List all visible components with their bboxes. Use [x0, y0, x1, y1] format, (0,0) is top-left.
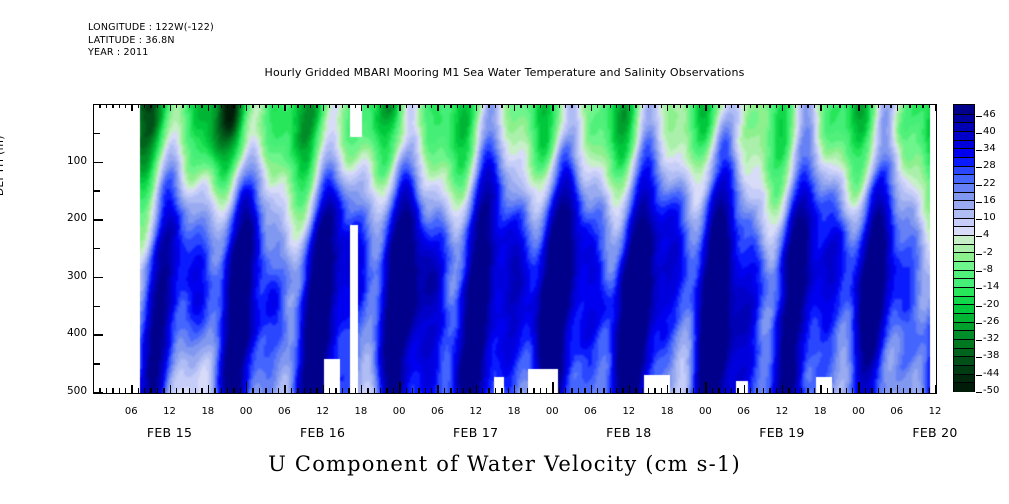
axis-tick: [412, 104, 413, 108]
colorbar-divider: [954, 122, 974, 123]
axis-tick: [304, 388, 305, 393]
colorbar-tick: [976, 236, 982, 237]
colorbar-divider: [954, 166, 974, 167]
axis-tick: [527, 388, 528, 393]
axis-tick: [310, 388, 311, 393]
axis-tick: [495, 104, 496, 108]
axis-tick: [335, 104, 336, 108]
axis-tick: [903, 388, 904, 393]
axis-tick: [661, 104, 662, 108]
axis-tick: [348, 388, 349, 393]
axis-tick: [616, 388, 617, 393]
axis-tick: [699, 104, 700, 108]
x-axis-hour-label: 18: [341, 406, 381, 417]
axis-tick: [437, 104, 438, 111]
x-axis-hour-label: 12: [456, 406, 496, 417]
latitude-label: LATITUDE : 36.8N: [88, 35, 175, 46]
axis-tick: [807, 388, 808, 393]
colorbar-divider: [954, 252, 974, 253]
axis-tick: [571, 104, 572, 108]
colorbar-divider: [954, 382, 974, 383]
axis-tick: [131, 104, 132, 111]
axis-tick: [642, 104, 643, 108]
axis-tick: [540, 104, 541, 108]
axis-tick: [629, 104, 630, 111]
colorbar-tick: [976, 150, 982, 151]
axis-tick: [712, 388, 713, 393]
axis-tick: [144, 104, 145, 108]
x-axis-hour-label: 06: [111, 406, 151, 417]
axis-tick: [94, 277, 103, 278]
axis-tick: [182, 104, 183, 108]
axis-tick: [374, 104, 375, 108]
colorbar-label: -50: [983, 385, 999, 396]
colorbar-tick: [976, 392, 982, 393]
axis-tick: [201, 388, 202, 393]
colorbar-divider: [954, 322, 974, 323]
x-axis-hour-label: 06: [571, 406, 611, 417]
axis-tick: [355, 104, 356, 108]
colorbar-tick: [976, 167, 982, 168]
axis-tick: [737, 388, 738, 393]
axis-tick: [94, 363, 100, 364]
y-axis-label: 500: [41, 385, 87, 397]
axis-tick: [310, 104, 311, 108]
x-axis-hour-label: 18: [188, 406, 228, 417]
colorbar-divider: [954, 183, 974, 184]
colorbar-divider: [954, 278, 974, 279]
axis-tick: [693, 104, 694, 108]
x-axis-hour-label: 12: [150, 406, 190, 417]
axis-tick: [131, 385, 132, 393]
axis-tick: [399, 104, 400, 111]
x-axis-day-label: FEB 17: [416, 425, 536, 440]
x-axis-hour-label: 00: [838, 406, 878, 417]
axis-tick: [176, 104, 177, 108]
axis-tick: [214, 104, 215, 108]
x-axis-hour-label: 06: [724, 406, 764, 417]
colorbar-label: 40: [983, 126, 996, 137]
axis-tick: [909, 104, 910, 108]
axis-tick: [189, 388, 190, 393]
axis-tick: [890, 388, 891, 393]
axis-tick: [884, 104, 885, 108]
axis-tick: [259, 388, 260, 393]
axis-tick: [897, 385, 898, 393]
axis-tick: [508, 104, 509, 108]
axis-tick: [565, 104, 566, 108]
axis-tick: [259, 104, 260, 108]
axis-tick: [406, 104, 407, 108]
axis-tick: [195, 388, 196, 393]
axis-tick: [94, 219, 103, 220]
axis-tick: [170, 385, 171, 393]
colorbar-divider: [954, 174, 974, 175]
axis-tick: [450, 388, 451, 393]
axis-tick: [731, 104, 732, 108]
axis-tick: [737, 104, 738, 108]
axis-tick: [909, 388, 910, 393]
x-axis-day-label: FEB 18: [569, 425, 689, 440]
colorbar-divider: [954, 330, 974, 331]
axis-tick: [227, 104, 228, 108]
axis-tick: [801, 388, 802, 393]
heatmap-field: [94, 105, 936, 393]
axis-tick: [119, 388, 120, 393]
colorbar-divider: [954, 287, 974, 288]
axis-tick: [533, 104, 534, 108]
axis-tick: [654, 388, 655, 393]
axis-tick: [316, 388, 317, 393]
colorbar-tick: [976, 254, 982, 255]
axis-tick: [584, 388, 585, 393]
axis-tick: [744, 385, 745, 393]
axis-tick: [610, 388, 611, 393]
axis-tick: [559, 388, 560, 393]
x-axis-hour-label: 12: [609, 406, 649, 417]
axis-tick: [284, 385, 285, 393]
axis-tick: [469, 388, 470, 393]
axis-tick: [852, 388, 853, 393]
x-axis-hour-label: 18: [494, 406, 534, 417]
axis-tick: [852, 104, 853, 108]
axis-tick: [501, 104, 502, 108]
metadata-block: LONGITUDE : 122W(-122)LATITUDE : 36.8NYE…: [88, 22, 214, 60]
axis-tick: [820, 385, 821, 393]
axis-tick: [386, 388, 387, 393]
axis-tick: [584, 104, 585, 108]
colorbar-label: 28: [983, 160, 996, 171]
axis-tick: [552, 104, 553, 111]
axis-tick: [514, 385, 515, 393]
axis-tick: [297, 388, 298, 393]
axis-tick: [731, 388, 732, 393]
axis-tick: [622, 388, 623, 393]
axis-tick: [170, 104, 171, 111]
x-axis-day-label: FEB 20: [875, 425, 995, 440]
axis-tick: [227, 388, 228, 393]
axis-tick: [399, 382, 400, 393]
axis-tick: [431, 104, 432, 108]
axis-tick: [878, 104, 879, 108]
axis-tick: [667, 104, 668, 111]
axis-tick: [565, 388, 566, 393]
axis-tick: [763, 388, 764, 393]
axis-tick: [99, 388, 100, 393]
axis-tick: [150, 104, 151, 108]
axis-tick: [233, 388, 234, 393]
axis-tick: [297, 104, 298, 108]
axis-tick: [240, 388, 241, 393]
axis-tick: [756, 388, 757, 393]
axis-tick: [788, 104, 789, 108]
axis-tick: [246, 382, 247, 393]
axis-tick: [265, 104, 266, 108]
axis-tick: [795, 388, 796, 393]
colorbar-tick: [976, 323, 982, 324]
axis-tick: [278, 388, 279, 393]
colorbar-divider: [954, 261, 974, 262]
colorbar-divider: [954, 339, 974, 340]
axis-tick: [380, 104, 381, 108]
axis-tick: [897, 104, 898, 111]
axis-tick: [138, 104, 139, 108]
axis-tick: [144, 388, 145, 393]
axis-tick: [514, 104, 515, 111]
axis-tick: [693, 388, 694, 393]
x-axis-hour-label: 00: [379, 406, 419, 417]
colorbar-label: 46: [983, 109, 996, 120]
axis-tick: [622, 104, 623, 108]
axis-tick: [833, 104, 834, 108]
axis-tick: [221, 388, 222, 393]
axis-tick: [291, 104, 292, 108]
axis-tick: [718, 388, 719, 393]
axis-tick: [578, 388, 579, 393]
axis-tick: [839, 104, 840, 108]
axis-tick: [776, 388, 777, 393]
axis-tick: [648, 388, 649, 393]
axis-tick: [240, 104, 241, 108]
chart-title: Hourly Gridded MBARI Mooring M1 Sea Wate…: [0, 66, 1009, 79]
colorbar-label: -20: [983, 299, 999, 310]
axis-tick: [903, 104, 904, 108]
axis-tick: [680, 104, 681, 108]
plot-frame: [93, 104, 937, 394]
colorbar: [953, 104, 975, 392]
axis-tick: [437, 385, 438, 393]
axis-tick: [189, 104, 190, 108]
axis-tick: [469, 104, 470, 108]
axis-tick: [112, 104, 113, 108]
axis-tick: [157, 388, 158, 393]
x-axis-day-label: FEB 15: [110, 425, 230, 440]
colorbar-tick: [976, 202, 982, 203]
axis-tick: [463, 104, 464, 108]
axis-tick: [699, 388, 700, 393]
axis-tick: [265, 388, 266, 393]
axis-tick: [756, 104, 757, 108]
colorbar-divider: [954, 131, 974, 132]
axis-tick: [374, 388, 375, 393]
axis-tick: [119, 104, 120, 108]
axis-tick: [476, 104, 477, 111]
colorbar-tick: [976, 116, 982, 117]
colorbar-divider: [954, 226, 974, 227]
axis-tick: [858, 382, 859, 393]
axis-tick: [865, 104, 866, 108]
axis-tick: [444, 388, 445, 393]
axis-tick: [916, 104, 917, 108]
axis-tick: [616, 104, 617, 108]
axis-tick: [482, 104, 483, 108]
axis-tick: [603, 104, 604, 108]
axis-tick: [93, 104, 94, 111]
axis-tick: [744, 104, 745, 111]
axis-tick: [361, 104, 362, 111]
colorbar-label: -8: [983, 264, 993, 275]
axis-tick: [591, 385, 592, 393]
colorbar-label: -44: [983, 368, 999, 379]
axis-tick: [272, 388, 273, 393]
x-axis-hour-label: 18: [800, 406, 840, 417]
axis-tick: [629, 385, 630, 393]
x-axis-hour-label: 00: [226, 406, 266, 417]
axis-tick: [163, 104, 164, 108]
axis-tick: [922, 388, 923, 393]
axis-tick: [463, 388, 464, 393]
axis-tick: [431, 388, 432, 393]
axis-tick: [635, 388, 636, 393]
colorbar-tick: [976, 357, 982, 358]
colorbar-label: 4: [983, 229, 989, 240]
axis-tick: [807, 104, 808, 108]
axis-tick: [769, 104, 770, 108]
axis-tick: [355, 388, 356, 393]
x-axis-hour-label: 00: [685, 406, 725, 417]
colorbar-divider: [954, 114, 974, 115]
axis-tick: [457, 104, 458, 108]
axis-tick: [106, 104, 107, 108]
colorbar-label: -32: [983, 333, 999, 344]
axis-tick: [482, 388, 483, 393]
axis-tick: [858, 104, 859, 111]
axis-tick: [99, 104, 100, 108]
axis-tick: [782, 385, 783, 393]
colorbar-label: -2: [983, 247, 993, 258]
axis-tick: [94, 248, 100, 249]
colorbar-label: -14: [983, 281, 999, 292]
axis-tick: [935, 104, 936, 111]
colorbar-divider: [954, 374, 974, 375]
axis-tick: [125, 104, 126, 108]
axis-tick: [642, 388, 643, 393]
plot-caption: U Component of Water Velocity (cm s-1): [0, 452, 1009, 476]
axis-tick: [705, 104, 706, 111]
axis-tick: [476, 385, 477, 393]
axis-tick: [406, 388, 407, 393]
axis-tick: [597, 388, 598, 393]
colorbar-divider: [954, 244, 974, 245]
colorbar-label: -26: [983, 316, 999, 327]
axis-tick: [922, 104, 923, 108]
colorbar-label: -38: [983, 350, 999, 361]
axis-tick: [176, 388, 177, 393]
axis-tick: [725, 388, 726, 393]
colorbar-tick: [976, 185, 982, 186]
axis-tick: [846, 104, 847, 108]
axis-tick: [718, 104, 719, 108]
axis-tick: [546, 104, 547, 108]
axis-tick: [93, 382, 94, 393]
axis-tick: [501, 388, 502, 393]
colorbar-tick: [976, 219, 982, 220]
axis-tick: [795, 104, 796, 108]
axis-tick: [591, 104, 592, 111]
axis-tick: [112, 388, 113, 393]
colorbar-divider: [954, 209, 974, 210]
x-axis-hour-label: 06: [417, 406, 457, 417]
axis-tick: [418, 388, 419, 393]
colorbar-divider: [954, 200, 974, 201]
axis-tick: [252, 388, 253, 393]
axis-tick: [94, 162, 103, 163]
colorbar-divider: [954, 148, 974, 149]
y-axis-label: 300: [41, 270, 87, 282]
axis-tick: [342, 104, 343, 108]
axis-tick: [221, 104, 222, 108]
colorbar-divider: [954, 270, 974, 271]
x-axis-hour-label: 12: [762, 406, 802, 417]
x-axis-hour-label: 06: [264, 406, 304, 417]
axis-tick: [603, 388, 604, 393]
axis-tick: [833, 388, 834, 393]
axis-tick: [361, 385, 362, 393]
axis-tick: [673, 104, 674, 108]
axis-tick: [814, 388, 815, 393]
colorbar-label: 16: [983, 195, 996, 206]
x-axis-hour-label: 12: [915, 406, 955, 417]
axis-tick: [750, 388, 751, 393]
axis-tick: [578, 104, 579, 108]
axis-tick: [94, 190, 100, 191]
axis-tick: [323, 104, 324, 111]
axis-tick: [788, 388, 789, 393]
axis-tick: [272, 104, 273, 108]
axis-tick: [425, 104, 426, 108]
axis-tick: [201, 104, 202, 108]
axis-tick: [533, 388, 534, 393]
axis-tick: [182, 388, 183, 393]
axis-tick: [208, 385, 209, 393]
axis-tick: [725, 104, 726, 108]
axis-tick: [94, 133, 100, 134]
axis-tick: [412, 388, 413, 393]
axis-tick: [827, 104, 828, 108]
axis-tick: [342, 388, 343, 393]
axis-tick: [380, 388, 381, 393]
axis-tick: [304, 104, 305, 108]
axis-tick: [871, 388, 872, 393]
axis-tick: [673, 388, 674, 393]
axis-tick: [418, 104, 419, 108]
axis-tick: [559, 104, 560, 108]
axis-tick: [801, 104, 802, 108]
colorbar-divider: [954, 313, 974, 314]
colorbar-tick: [976, 133, 982, 134]
axis-tick: [527, 104, 528, 108]
year-label: YEAR : 2011: [88, 47, 149, 58]
axis-tick: [367, 104, 368, 108]
axis-tick: [667, 385, 668, 393]
axis-tick: [820, 104, 821, 111]
axis-tick: [157, 104, 158, 108]
axis-tick: [316, 104, 317, 108]
axis-tick: [929, 104, 930, 108]
axis-tick: [520, 104, 521, 108]
axis-tick: [916, 388, 917, 393]
colorbar-label: 22: [983, 178, 996, 189]
axis-tick: [495, 388, 496, 393]
axis-tick: [94, 306, 100, 307]
axis-tick: [680, 388, 681, 393]
axis-tick: [686, 388, 687, 393]
x-axis-hour-label: 06: [877, 406, 917, 417]
axis-tick: [335, 388, 336, 393]
axis-tick: [552, 382, 553, 393]
colorbar-divider: [954, 296, 974, 297]
x-axis-hour-label: 00: [532, 406, 572, 417]
